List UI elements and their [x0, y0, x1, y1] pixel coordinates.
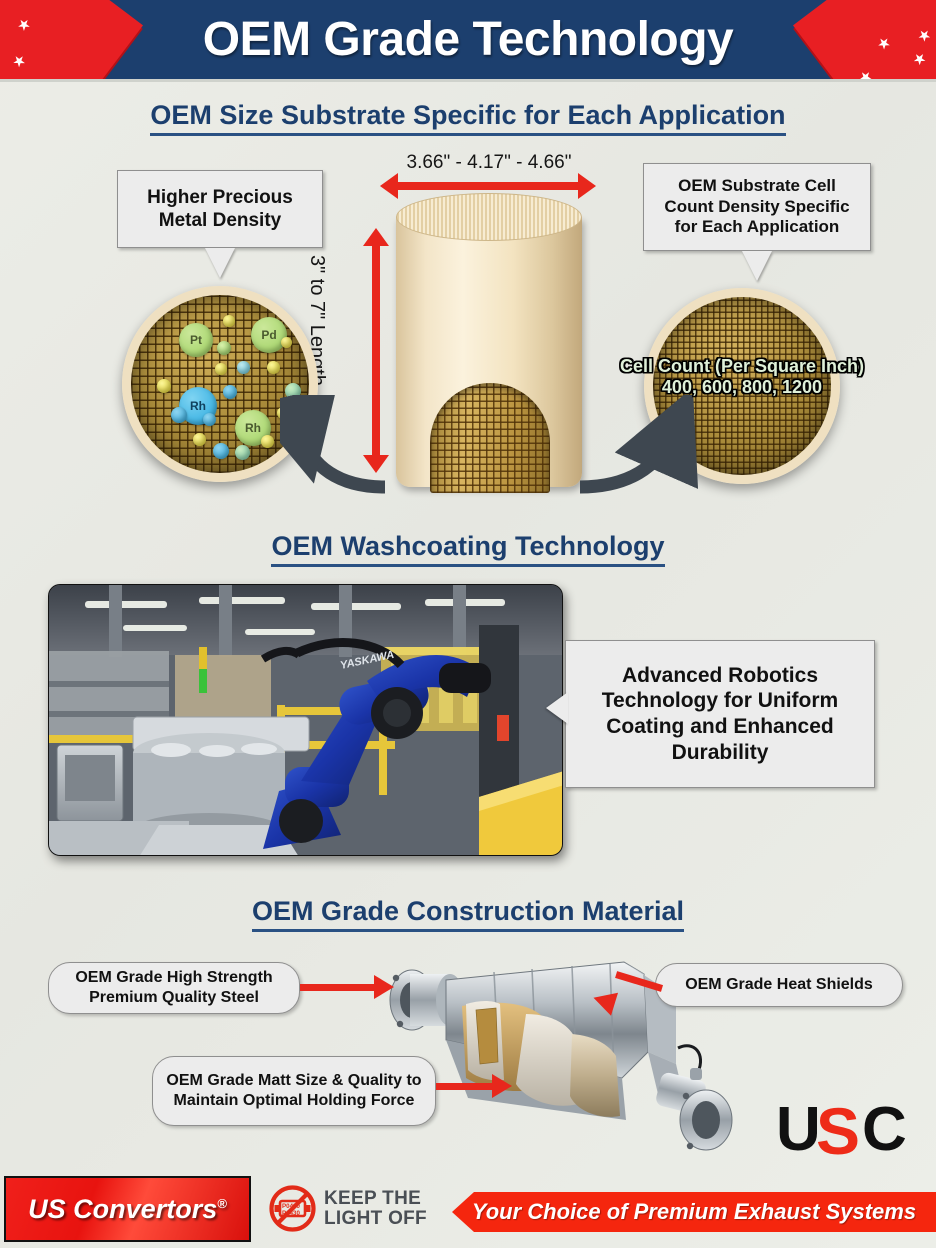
- section-heading-washcoat: OEM Washcoating Technology: [0, 531, 936, 562]
- particle-dot: [171, 407, 187, 423]
- particle-dot: [237, 361, 250, 374]
- callout-tail-right: [742, 251, 772, 281]
- callout-precious-metal-density-label: Higher Precious Metal Density: [127, 186, 313, 232]
- brand-name: US Convertors: [28, 1194, 217, 1224]
- cell-count-overlay: Cell Count (Per Square Inch) 400, 600, 8…: [592, 356, 892, 397]
- cell-count-values: 400, 600, 800, 1200: [592, 377, 892, 398]
- particle-dot: [261, 435, 274, 448]
- callout-matt-size-label: OEM Grade Matt Size & Quality to Maintai…: [163, 1071, 425, 1111]
- keep-light-off-badge: P0420 P0430 KEEP THE LIGHT OFF: [268, 1184, 427, 1233]
- us-convertors-text: US Convertors®: [28, 1194, 227, 1225]
- section-heading-washcoat-label: OEM Washcoating Technology: [271, 531, 664, 567]
- registered-mark: ®: [217, 1196, 227, 1211]
- usc-logo-c: C: [862, 1096, 907, 1162]
- tagline-banner: Your Choice of Premium Exhaust Systems: [452, 1192, 936, 1232]
- usc-logo-u: U: [776, 1096, 821, 1162]
- callout-premium-steel-label: OEM Grade High Strength Premium Quality …: [59, 968, 289, 1008]
- washcoating-robot-photo: YASKAWA: [48, 584, 563, 856]
- particle-dot: [203, 413, 216, 426]
- keep-line-1: KEEP THE: [324, 1189, 427, 1209]
- infographic-page: ★ ★ ★ ★ ★ ★ ★ ★ ★ ★ ★ ★ ★ ★ ★ ★ ★ ★: [0, 0, 936, 1248]
- callout-advanced-robotics-label: Advanced Robotics Technology for Uniform…: [575, 663, 865, 765]
- particle-dot: [223, 385, 237, 399]
- particle-dot: [281, 337, 292, 348]
- section-heading-construction: OEM Grade Construction Material: [0, 896, 936, 927]
- particle-pd: Pd: [251, 317, 287, 353]
- particle-dot: [267, 361, 280, 374]
- callout-premium-steel: OEM Grade High Strength Premium Quality …: [48, 962, 300, 1014]
- usc-logo-s: S: [816, 1096, 860, 1162]
- callout-cell-count-density: OEM Substrate Cell Count Density Specifi…: [643, 163, 871, 251]
- callout-heat-shields-label: OEM Grade Heat Shields: [685, 975, 873, 995]
- diameter-label: 3.66" - 4.17" - 4.66": [381, 152, 597, 174]
- page-header: ★ ★ ★ ★ ★ ★ ★ ★ ★ ★ ★ ★ ★ ★ ★ ★ ★ ★: [0, 0, 936, 82]
- us-convertors-logo: US Convertors®: [4, 1176, 251, 1242]
- section-heading-substrate-label: OEM Size Substrate Specific for Each App…: [150, 100, 785, 136]
- callout-tail-robotics: [546, 692, 568, 724]
- callout-precious-metal-density: Higher Precious Metal Density: [117, 170, 323, 248]
- page-footer: US Convertors® P0420 P0430 KEEP THE LIGH…: [0, 1170, 936, 1248]
- tagline-text: Your Choice of Premium Exhaust Systems: [472, 1199, 916, 1225]
- cell-count-title: Cell Count (Per Square Inch): [592, 356, 892, 377]
- particle-dot: [213, 443, 229, 459]
- arrow-to-right-circle: [580, 435, 672, 487]
- callout-advanced-robotics: Advanced Robotics Technology for Uniform…: [565, 640, 875, 788]
- keep-line-2: LIGHT OFF: [324, 1209, 427, 1229]
- no-symbol-icon: P0420 P0430: [268, 1184, 317, 1233]
- callout-cell-count-density-label: OEM Substrate Cell Count Density Specifi…: [653, 176, 861, 238]
- usc-logo: U C S: [776, 1096, 912, 1162]
- keep-light-off-text: KEEP THE LIGHT OFF: [324, 1189, 427, 1228]
- callout-matt-size: OEM Grade Matt Size & Quality to Maintai…: [152, 1056, 436, 1126]
- particle-dot: [193, 433, 206, 446]
- cylinder-top-face: [396, 193, 582, 241]
- particle-dot: [215, 363, 227, 375]
- callout-tail-left: [205, 248, 235, 278]
- section-heading-construction-label: OEM Grade Construction Material: [252, 896, 684, 932]
- particle-pt: Pt: [179, 323, 213, 357]
- particle-dot: [223, 315, 235, 327]
- particle-dot: [157, 379, 171, 393]
- particle-dot: [217, 341, 231, 355]
- section-heading-substrate: OEM Size Substrate Specific for Each App…: [0, 100, 936, 131]
- connector-arrows: [280, 395, 700, 505]
- particle-dot: [235, 445, 250, 460]
- callout-heat-shields: OEM Grade Heat Shields: [655, 963, 903, 1007]
- arrow-to-left-circle: [302, 433, 385, 487]
- page-title: OEM Grade Technology: [0, 0, 936, 78]
